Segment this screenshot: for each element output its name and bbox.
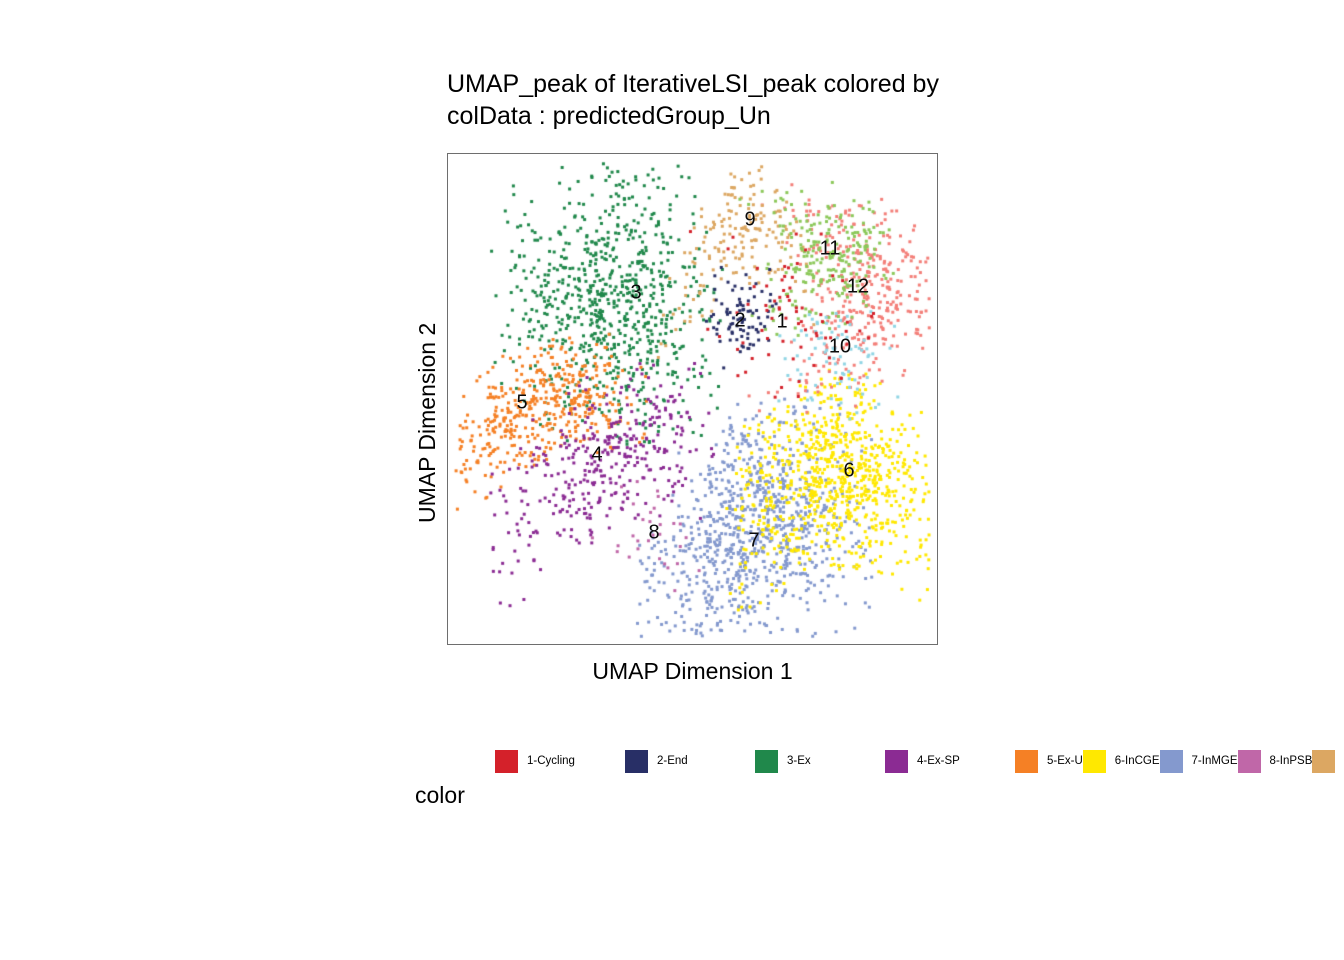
y-axis-label: UMAP Dimension 2	[414, 323, 441, 523]
legend-title: color	[415, 782, 465, 809]
legend-item[interactable]: 8-InPSB	[1238, 750, 1313, 773]
legend: color 1-Cycling2-End3-Ex4-Ex-SP5-Ex-U6-I…	[410, 730, 1030, 875]
legend-item-label: 7-InMGE	[1192, 755, 1238, 767]
legend-swatch-icon	[1083, 750, 1106, 773]
legend-item-label: 4-Ex-SP	[917, 755, 960, 767]
legend-item-label: 3-Ex	[787, 755, 811, 767]
legend-item[interactable]: 5-Ex-U	[1015, 750, 1083, 773]
legend-item[interactable]: 9-IP	[1312, 750, 1344, 773]
page-title: UMAP_peak of IterativeLSI_peak colored b…	[447, 68, 1147, 132]
legend-item[interactable]: 7-InMGE	[1160, 750, 1238, 773]
scatter-plot-panel	[447, 153, 938, 645]
legend-item-label: 2-End	[657, 755, 688, 767]
x-axis-label: UMAP Dimension 1	[447, 658, 938, 685]
legend-swatch-icon	[1312, 750, 1335, 773]
legend-grid: 1-Cycling2-End3-Ex4-Ex-SP5-Ex-U6-InCGE7-…	[495, 738, 1344, 784]
legend-item-label: 8-InPSB	[1270, 755, 1313, 767]
legend-item[interactable]: 3-Ex	[755, 750, 885, 773]
legend-swatch-icon	[1015, 750, 1038, 773]
legend-item-label: 6-InCGE	[1115, 755, 1160, 767]
legend-item[interactable]: 1-Cycling	[495, 750, 625, 773]
scatter-canvas	[448, 154, 937, 644]
legend-item[interactable]: 2-End	[625, 750, 755, 773]
legend-swatch-icon	[1238, 750, 1261, 773]
legend-swatch-icon	[885, 750, 908, 773]
legend-item[interactable]: 6-InCGE	[1083, 750, 1160, 773]
umap-figure: UMAP_peak of IterativeLSI_peak colored b…	[0, 0, 1344, 960]
legend-item[interactable]: 4-Ex-SP	[885, 750, 1015, 773]
legend-item-label: 5-Ex-U	[1047, 755, 1083, 767]
legend-swatch-icon	[755, 750, 778, 773]
legend-item-label: 1-Cycling	[527, 755, 575, 767]
legend-swatch-icon	[1160, 750, 1183, 773]
legend-swatch-icon	[625, 750, 648, 773]
legend-swatch-icon	[495, 750, 518, 773]
